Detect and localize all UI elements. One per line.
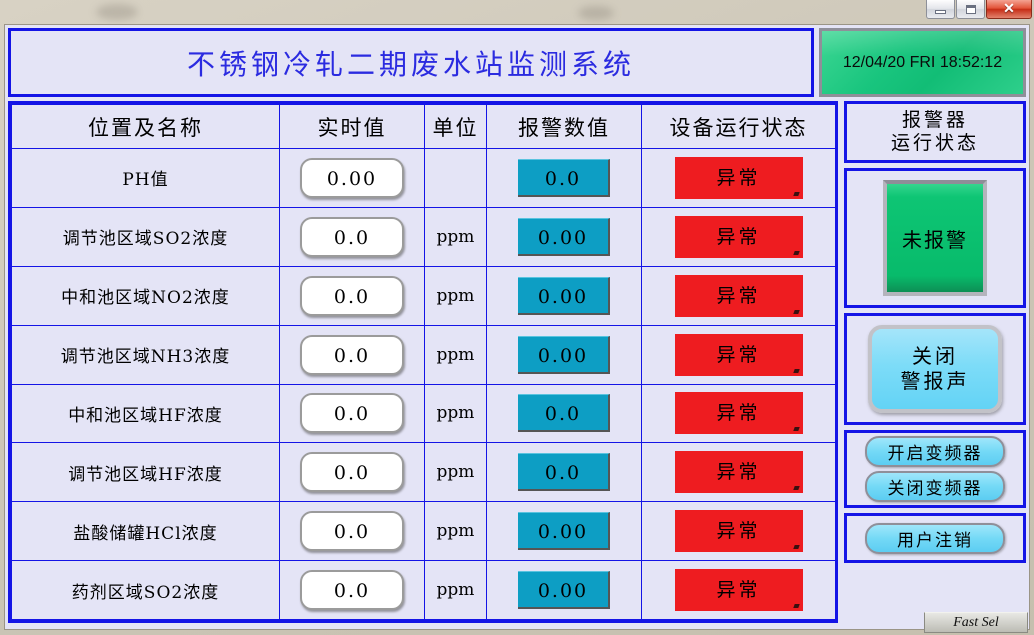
cell-location-name: PH值 [12, 149, 280, 208]
alarm-setpoint-field[interactable]: 0.0 [518, 394, 610, 432]
realtime-value-readout[interactable]: 0.0 [300, 511, 404, 551]
column-header-location: 位置及名称 [12, 105, 280, 149]
cell-realtime-value: 0.0 [280, 325, 425, 384]
cell-device-status: 异常 [642, 207, 836, 266]
cell-location-name: 调节池区域NH3浓度 [12, 325, 280, 384]
alarm-setpoint-field[interactable]: 0.00 [518, 277, 610, 315]
mute-alarm-button[interactable]: 关闭 警报声 [868, 325, 1002, 413]
logout-button-box: 用户注销 [844, 513, 1026, 563]
alarm-state-box: 未报警 [844, 168, 1026, 308]
title-container: 不锈钢冷轧二期废水站监测系统 [8, 28, 814, 97]
cell-location-name: 盐酸储罐HCl浓度 [12, 502, 280, 561]
table-row: 调节池区域HF浓度0.0ppm0.0异常 [12, 443, 836, 502]
cell-alarm-setpoint: 0.00 [487, 266, 642, 325]
cell-location-name: 中和池区域HF浓度 [12, 384, 280, 443]
realtime-value-readout[interactable]: 0.0 [300, 217, 404, 257]
fast-sel-button[interactable]: Fast Sel [924, 612, 1028, 633]
cell-unit: ppm [425, 325, 487, 384]
alarm-panel-title-box: 报警器 运行状态 [844, 101, 1026, 163]
cell-unit: ppm [425, 384, 487, 443]
cell-device-status: 异常 [642, 149, 836, 208]
cell-alarm-setpoint: 0.00 [487, 207, 642, 266]
desktop-blur-artifact [578, 6, 614, 20]
column-header-status: 设备运行状态 [642, 105, 836, 149]
alarm-setpoint-field[interactable]: 0.00 [518, 218, 610, 256]
cell-unit: ppm [425, 443, 487, 502]
cell-device-status: 异常 [642, 443, 836, 502]
status-badge: 异常 [675, 569, 803, 611]
cell-unit: ppm [425, 266, 487, 325]
table-row: 中和池区域HF浓度0.0ppm0.0异常 [12, 384, 836, 443]
status-badge: 异常 [675, 510, 803, 552]
datetime-display: 12/04/20 FRI 18:52:12 [819, 28, 1026, 97]
cell-realtime-value: 0.0 [280, 266, 425, 325]
cell-device-status: 异常 [642, 325, 836, 384]
cell-realtime-value: 0.00 [280, 149, 425, 208]
realtime-value-readout[interactable]: 0.00 [300, 158, 404, 198]
table-row: PH值0.000.0异常 [12, 149, 836, 208]
cell-alarm-setpoint: 0.0 [487, 443, 642, 502]
minimize-icon [935, 10, 946, 14]
cell-unit: ppm [425, 561, 487, 620]
close-button[interactable]: ✕ [986, 0, 1032, 19]
table-row: 中和池区域NO2浓度0.0ppm0.00异常 [12, 266, 836, 325]
realtime-value-readout[interactable]: 0.0 [300, 452, 404, 492]
alarm-title-line-2: 运行状态 [891, 132, 979, 155]
sidebar: 报警器 运行状态 未报警 关闭 警报声 开启变频器 关闭变频器 [844, 101, 1026, 623]
column-header-unit: 单位 [425, 105, 487, 149]
cell-unit: ppm [425, 502, 487, 561]
cell-unit [425, 149, 487, 208]
cell-location-name: 药剂区域SO2浓度 [12, 561, 280, 620]
cell-device-status: 异常 [642, 266, 836, 325]
maximize-button[interactable] [956, 0, 985, 19]
realtime-value-readout[interactable]: 0.0 [300, 335, 404, 375]
cell-device-status: 异常 [642, 384, 836, 443]
desktop-blur-artifact [96, 4, 138, 20]
cell-realtime-value: 0.0 [280, 561, 425, 620]
realtime-value-readout[interactable]: 0.0 [300, 393, 404, 433]
alarm-setpoint-field[interactable]: 0.0 [518, 453, 610, 491]
application-panel: 不锈钢冷轧二期废水站监测系统 12/04/20 FRI 18:52:12 位置及… [4, 24, 1030, 630]
cell-unit: ppm [425, 207, 487, 266]
cell-device-status: 异常 [642, 502, 836, 561]
cell-location-name: 调节池区域HF浓度 [12, 443, 280, 502]
alarm-setpoint-field[interactable]: 0.0 [518, 159, 610, 197]
window-controls: ✕ [925, 0, 1032, 22]
datetime-text: 12/04/20 FRI 18:52:12 [843, 54, 1002, 72]
cell-location-name: 调节池区域SO2浓度 [12, 207, 280, 266]
status-badge: 异常 [675, 451, 803, 493]
cell-location-name: 中和池区域NO2浓度 [12, 266, 280, 325]
alarm-state-indicator: 未报警 [883, 180, 987, 296]
monitoring-table-container: 位置及名称 实时值 单位 报警数值 设备运行状态 PH值0.000.0异常调节池… [8, 101, 838, 623]
table-row: 调节池区域SO2浓度0.0ppm0.00异常 [12, 207, 836, 266]
alarm-title-line-1: 报警器 [891, 109, 979, 132]
mute-label-line-2: 警报声 [901, 369, 970, 394]
alarm-setpoint-field[interactable]: 0.00 [518, 512, 610, 550]
cell-alarm-setpoint: 0.0 [487, 384, 642, 443]
realtime-value-readout[interactable]: 0.0 [300, 276, 404, 316]
header: 不锈钢冷轧二期废水站监测系统 12/04/20 FRI 18:52:12 [8, 28, 1026, 97]
table-row: 调节池区域NH3浓度0.0ppm0.00异常 [12, 325, 836, 384]
cell-realtime-value: 0.0 [280, 384, 425, 443]
column-header-realtime: 实时值 [280, 105, 425, 149]
body: 位置及名称 实时值 单位 报警数值 设备运行状态 PH值0.000.0异常调节池… [8, 101, 1026, 623]
user-logout-button[interactable]: 用户注销 [865, 523, 1005, 554]
column-header-alarm: 报警数值 [487, 105, 642, 149]
page-title: 不锈钢冷轧二期废水站监测系统 [187, 43, 635, 83]
cell-alarm-setpoint: 0.00 [487, 561, 642, 620]
mute-label-line-1: 关闭 [901, 344, 970, 369]
status-badge: 异常 [675, 275, 803, 317]
maximize-icon [966, 5, 976, 14]
minimize-button[interactable] [926, 0, 955, 19]
mute-button-box: 关闭 警报声 [844, 313, 1026, 425]
cell-realtime-value: 0.0 [280, 443, 425, 502]
realtime-value-readout[interactable]: 0.0 [300, 570, 404, 610]
status-badge: 异常 [675, 216, 803, 258]
vfd-start-button[interactable]: 开启变频器 [865, 436, 1005, 467]
cell-alarm-setpoint: 0.00 [487, 325, 642, 384]
table-body: PH值0.000.0异常调节池区域SO2浓度0.0ppm0.00异常中和池区域N… [12, 149, 836, 620]
status-badge: 异常 [675, 157, 803, 199]
monitoring-table: 位置及名称 实时值 单位 报警数值 设备运行状态 PH值0.000.0异常调节池… [11, 104, 836, 620]
alarm-setpoint-field[interactable]: 0.00 [518, 336, 610, 374]
table-header-row: 位置及名称 实时值 单位 报警数值 设备运行状态 [12, 105, 836, 149]
cell-alarm-setpoint: 0.0 [487, 149, 642, 208]
status-badge: 异常 [675, 334, 803, 376]
cell-device-status: 异常 [642, 561, 836, 620]
close-icon: ✕ [1003, 1, 1015, 18]
status-badge: 异常 [675, 392, 803, 434]
alarm-setpoint-field[interactable]: 0.00 [518, 571, 610, 609]
table-row: 药剂区域SO2浓度0.0ppm0.00异常 [12, 561, 836, 620]
cell-alarm-setpoint: 0.00 [487, 502, 642, 561]
alarm-panel-title: 报警器 运行状态 [891, 109, 979, 155]
table-row: 盐酸储罐HCl浓度0.0ppm0.00异常 [12, 502, 836, 561]
vfd-stop-button[interactable]: 关闭变频器 [865, 471, 1005, 502]
vfd-button-box: 开启变频器 关闭变频器 [844, 430, 1026, 508]
cell-realtime-value: 0.0 [280, 502, 425, 561]
cell-realtime-value: 0.0 [280, 207, 425, 266]
